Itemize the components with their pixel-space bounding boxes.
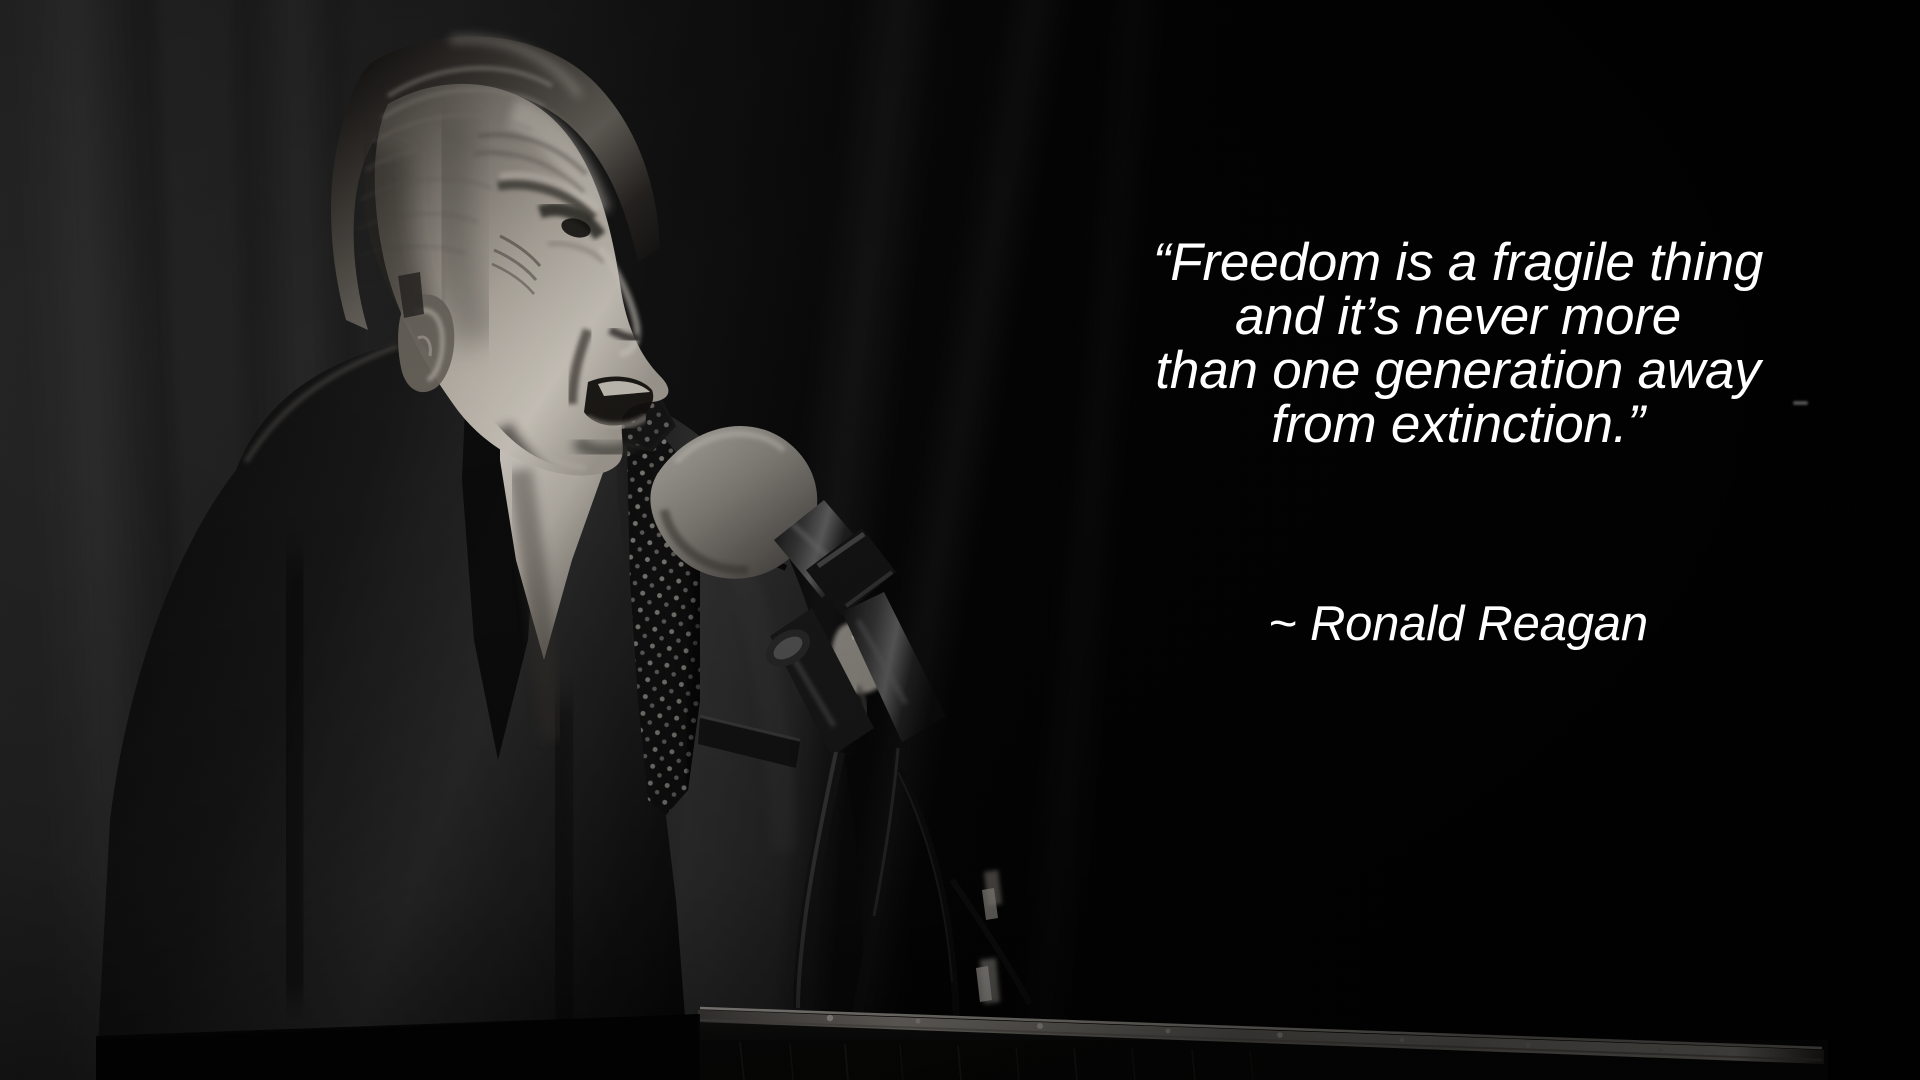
quote-text-block: “Freedom is a fragile thing and it’s nev… bbox=[1058, 236, 1858, 452]
quote-line-2: and it’s never more bbox=[1058, 290, 1858, 344]
quote-attribution: ~ Ronald Reagan bbox=[1058, 598, 1858, 650]
quote-line-1: “Freedom is a fragile thing bbox=[1058, 236, 1858, 290]
quote-image-canvas: “Freedom is a fragile thing and it’s nev… bbox=[0, 0, 1920, 1080]
quote-line-4: from extinction.” bbox=[1058, 398, 1858, 452]
quote-line-3: than one generation away bbox=[1058, 344, 1858, 398]
stage-curtain-backdrop bbox=[0, 0, 1920, 1080]
